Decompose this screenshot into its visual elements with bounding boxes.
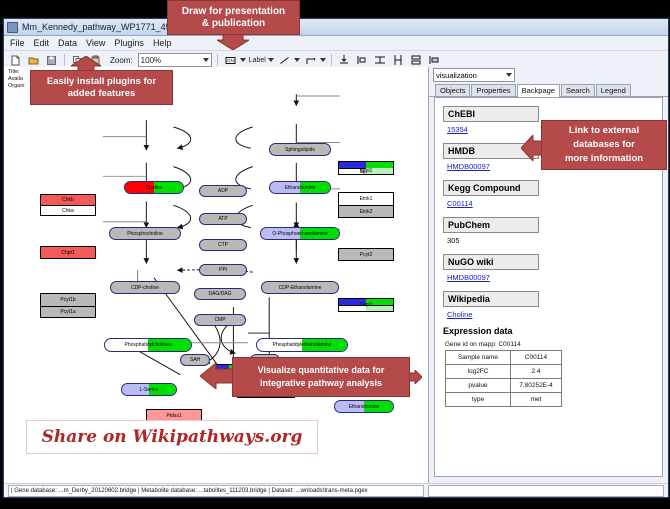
gene-row: Pcyt1a — [41, 306, 95, 318]
node-label: Etnk2 — [360, 209, 373, 215]
callout-line-2: added features — [68, 88, 136, 100]
chevron-down-icon[interactable] — [240, 58, 246, 62]
callout-links-arrow — [521, 135, 543, 161]
node-label: CDP-choline — [131, 285, 159, 291]
gene-row: Chka — [41, 205, 95, 215]
gene-node-chpt1[interactable]: Chpt1 — [40, 246, 96, 259]
save-icon[interactable] — [44, 53, 59, 68]
metabolite-node-ctp[interactable]: CTP — [199, 239, 247, 251]
chevron-down-icon[interactable] — [294, 58, 300, 62]
metabolite-node-phosphatidylethanolamine[interactable]: Phosphatidylethanolamine — [256, 338, 348, 352]
callout-visualize-arrow — [200, 363, 234, 389]
align-top-icon[interactable] — [337, 53, 352, 68]
db-header-nugo: NuGO wiki — [443, 254, 539, 270]
db-link-kegg[interactable]: C00114 — [447, 199, 654, 208]
node-label: Phosphatidylethanolamine — [273, 342, 332, 348]
app-icon — [7, 22, 18, 33]
metabolite-node-ethanolamine-bottom[interactable]: Ethanolamine — [334, 400, 394, 413]
node-label: Ethanolamine — [349, 404, 380, 410]
table-cell-key: Sample name — [446, 351, 511, 365]
chevron-down-icon[interactable] — [320, 58, 326, 62]
metabolite-node-adp[interactable]: ADP — [199, 185, 247, 197]
table-cell-value: met — [511, 393, 562, 407]
node-label: DAG/DAG — [208, 291, 231, 297]
open-icon[interactable] — [26, 53, 41, 68]
node-label: Pcyt1b — [60, 297, 75, 303]
gene-row: Chpt1 — [41, 247, 95, 258]
node-label: Choline — [146, 185, 163, 191]
node-label: PPi — [219, 267, 227, 273]
align-left-icon[interactable] — [355, 53, 370, 68]
status-text: | Gene database: ...m_Derby_20120602.bri… — [8, 485, 424, 497]
table-row: type met — [446, 393, 562, 407]
share-text: Share on Wikipathways.org — [42, 427, 303, 447]
callout-line-1: Link to external — [569, 124, 639, 138]
gene-node-pcyt1[interactable]: Pcyt1b Pcyt1a — [40, 293, 96, 318]
zoom-label: Zoom: — [110, 56, 133, 65]
callout-line-2: databases for — [573, 138, 635, 152]
db-header-wikipedia: Wikipedia — [443, 291, 539, 307]
db-link-wikipedia[interactable]: Choline — [447, 310, 654, 319]
metabolite-node-dag[interactable]: DAG/DAG — [194, 288, 246, 300]
expression-table: Sample name C00114 log2FC 2.4 pvalue 7.8… — [445, 350, 562, 407]
gene-node-pcyt2[interactable]: Pcyt2 — [338, 248, 394, 261]
status-bar: | Gene database: ...m_Derby_20120602.bri… — [4, 483, 668, 497]
label-tool[interactable]: Label — [249, 57, 274, 64]
menu-help[interactable]: Help — [153, 38, 172, 48]
status-extra — [428, 485, 664, 497]
title-bar: Mm_Kennedy_pathway_WP1771_45176.gpml — [4, 19, 668, 36]
node-label-overlay: Cept1 — [359, 302, 372, 308]
screenshot-root: Mm_Kennedy_pathway_WP1771_45176.gpml Fil… — [0, 0, 670, 509]
callout-line-2: & publication — [202, 18, 265, 30]
visualization-combo[interactable]: visualization — [433, 68, 515, 82]
callout-line-1: Draw for presentation — [182, 6, 285, 18]
table-cell-value: 2.4 — [511, 365, 562, 379]
geneproduct-tool[interactable]: GN — [223, 53, 246, 68]
zoom-value: 100% — [141, 56, 161, 65]
db-value-pubchem: 305 — [447, 236, 654, 245]
db-header-chebi: ChEBI — [443, 106, 539, 122]
new-icon[interactable] — [8, 53, 23, 68]
metabolite-node[interactable]: Sphingolipids — [269, 143, 331, 156]
callout-share: Share on Wikipathways.org — [26, 420, 318, 454]
metabolite-node-phosphocholine[interactable]: Phosphocholine — [109, 227, 181, 240]
tab-properties[interactable]: Properties — [471, 84, 515, 96]
label-tool-text: Label — [249, 57, 266, 64]
metabolite-node-atp[interactable]: ATP — [199, 213, 247, 225]
table-cell-key: type — [446, 393, 511, 407]
table-row: pvalue 7.80252E-4 — [446, 379, 562, 393]
tab-legend[interactable]: Legend — [596, 84, 631, 96]
metabolite-node-choline[interactable]: Choline — [124, 181, 184, 194]
node-label: Sphingolipids — [285, 147, 315, 153]
pathway-organism-label: Organi — [8, 83, 25, 90]
gene-node-chk[interactable]: Chkb Chka — [40, 194, 96, 216]
gene-node-cept1[interactable]: Cept1 — [338, 298, 394, 312]
chevron-down-icon[interactable] — [268, 58, 274, 62]
node-label: Phosphocholine — [127, 231, 163, 237]
callout-line-2: integrative pathway analysis — [260, 377, 382, 390]
chevron-down-icon — [506, 73, 512, 77]
metabolite-node-cdp-ethanolamine[interactable]: CDP-Ethanolamine — [261, 281, 339, 294]
toolbar-separator — [217, 54, 218, 66]
callout-plugins: Easily install plugins for added feature… — [30, 70, 173, 105]
gene-row: Chkb — [41, 195, 95, 205]
node-label: Chkb — [62, 197, 74, 203]
expression-data-title: Expression data — [443, 326, 654, 336]
menu-data[interactable]: Data — [58, 38, 77, 48]
callout-line-1: Easily install plugins for — [47, 76, 156, 88]
node-label: Pcyt1a — [60, 309, 75, 315]
db-header-pubchem: PubChem — [443, 217, 539, 233]
table-row: log2FC 2.4 — [446, 365, 562, 379]
node-label: CDP-Ethanolamine — [279, 285, 322, 291]
menu-file[interactable]: File — [10, 38, 25, 48]
table-cell-value: 7.80252E-4 — [511, 379, 562, 393]
callout-visualize-arrow-right — [408, 370, 422, 384]
side-tabs: Objects Properties Backpage Search Legen… — [429, 83, 668, 97]
connector-tool[interactable] — [303, 53, 326, 68]
table-cell-value: C00114 — [511, 351, 562, 365]
chevron-down-icon — [203, 58, 209, 62]
tab-search[interactable]: Search — [561, 84, 595, 96]
pathway-title-label: Title: — [8, 69, 25, 76]
node-label: CMP — [214, 317, 225, 323]
node-label: Ethanolamine — [285, 185, 316, 191]
gene-row: Pcyt1b — [41, 294, 95, 306]
toolbar-separator — [64, 54, 65, 66]
pathway-info: Title: Availa Organi — [8, 69, 25, 90]
node-label: Phosphatidylcholines — [125, 342, 172, 348]
line-icon[interactable] — [277, 53, 292, 68]
line-tool[interactable] — [277, 53, 300, 68]
gene-row: Pcyt2 — [339, 249, 393, 260]
metabolite-node-cmp[interactable]: CMP — [194, 314, 246, 326]
gene-row: Etnk2 — [339, 205, 393, 217]
bring-front-icon[interactable] — [427, 53, 442, 68]
geneproduct-icon[interactable]: GN — [223, 53, 238, 68]
callout-links: Link to external databases for more info… — [541, 120, 667, 170]
toolbar-separator — [331, 54, 332, 66]
menu-view[interactable]: View — [86, 38, 105, 48]
tab-objects[interactable]: Objects — [435, 84, 470, 96]
gene-node-sgpl1[interactable]: Sgpl1 Sgpl1 — [338, 161, 394, 175]
metabolite-node-o-phosphoethanolamine[interactable]: O-Phosphoethanolamine — [260, 227, 340, 240]
menu-plugins[interactable]: Plugins — [114, 38, 144, 48]
node-label: SAH — [190, 357, 200, 363]
menu-edit[interactable]: Edit — [34, 38, 50, 48]
node-label: Chka — [62, 208, 74, 214]
distribute-horizontal-icon[interactable] — [391, 53, 406, 68]
callout-line-3: more information — [565, 152, 643, 166]
table-row: Sample name C00114 — [446, 351, 562, 365]
metabolite-node-ethanolamine[interactable]: Ethanolamine — [269, 181, 331, 194]
table-cell-key: log2FC — [446, 365, 511, 379]
node-label: CTP — [218, 242, 228, 248]
callout-visualize: Visualize quantitative data for integrat… — [232, 357, 410, 397]
visualization-value: visualization — [436, 71, 477, 80]
connector-icon[interactable] — [303, 53, 318, 68]
callout-draw: Draw for presentation & publication — [167, 0, 300, 35]
table-cell-key: pvalue — [446, 379, 511, 393]
metabolite-node-l-serine-left[interactable]: L-Serine — [121, 383, 177, 396]
db-header-kegg: Kegg Compound — [443, 180, 539, 196]
metabolite-node-cdp-choline[interactable]: CDP-choline — [110, 281, 180, 294]
db-link-nugo[interactable]: HMDB00097 — [447, 273, 654, 282]
zoom-combo[interactable]: 100% — [138, 53, 212, 67]
tab-backpage[interactable]: Backpage — [517, 84, 560, 97]
gene-row: Etnk1 — [339, 193, 393, 205]
node-label: Ptdss1 — [166, 413, 181, 419]
node-label: ADP — [218, 188, 228, 194]
node-label: Chpt1 — [61, 250, 74, 256]
node-label-overlay: Sgpl1 — [360, 168, 373, 174]
metabolite-node-ppi[interactable]: PPi — [199, 264, 247, 276]
metabolite-node-phosphatidylcholines[interactable]: Phosphatidylcholines — [104, 338, 192, 352]
stack-icon[interactable] — [409, 53, 424, 68]
node-label: ATP — [218, 216, 227, 222]
node-label: L-Serine — [140, 387, 159, 393]
node-label: O-Phosphoethanolamine — [272, 231, 327, 237]
gene-id-on-mapp: Gene id on mapp: C00114 — [445, 341, 654, 348]
menu-bar: File Edit Data View Plugins Help — [4, 36, 668, 51]
node-label: Pcyt2 — [360, 252, 373, 258]
gene-node-etnk[interactable]: Etnk1 Etnk2 — [338, 192, 394, 218]
distribute-vertical-icon[interactable] — [373, 53, 388, 68]
svg-text:GN: GN — [227, 58, 234, 63]
visualization-row: visualization — [429, 67, 668, 83]
callout-draw-arrow — [217, 33, 249, 50]
callout-line-1: Visualize quantitative data for — [258, 364, 385, 377]
node-label: Etnk1 — [360, 196, 373, 202]
pathway-availability-label: Availa — [8, 76, 25, 83]
